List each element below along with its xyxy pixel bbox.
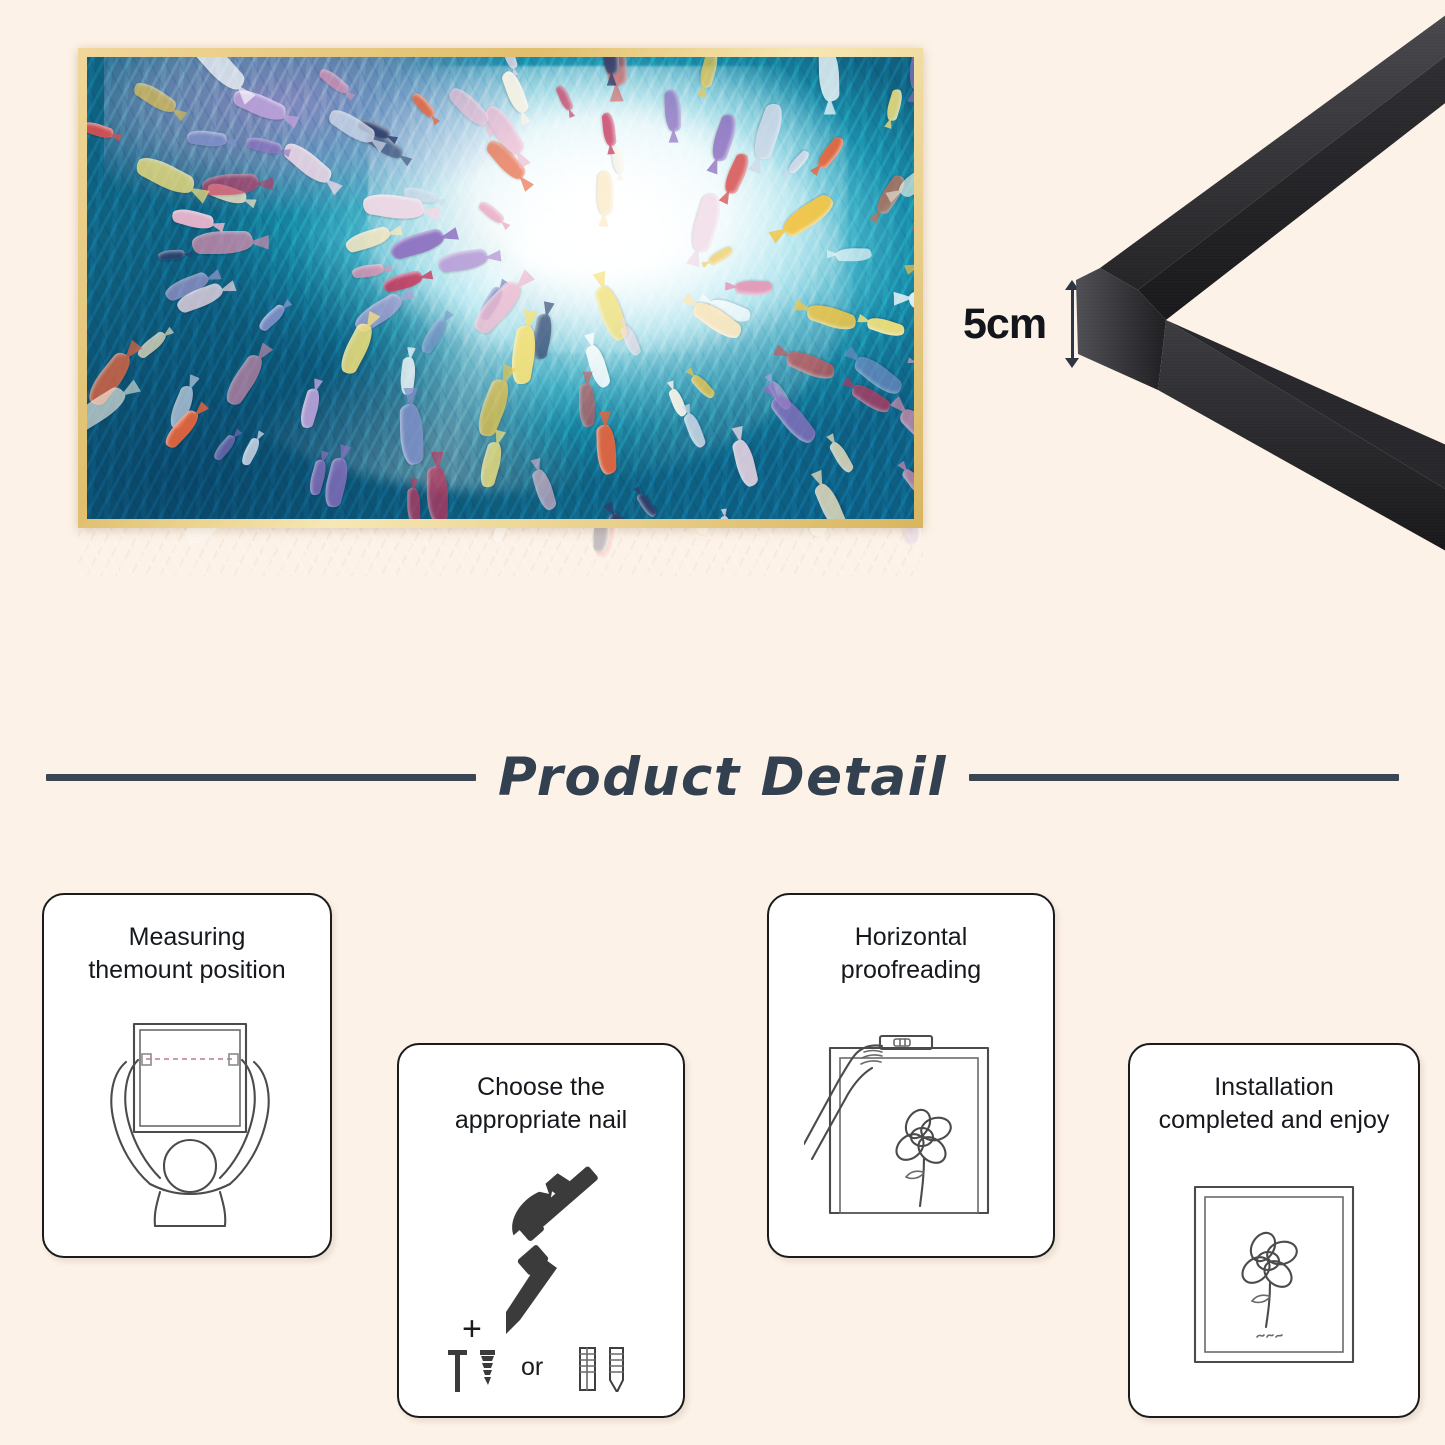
depth-label: 5cm bbox=[963, 300, 1046, 349]
hammer-and-nails-icon: + or bbox=[399, 1137, 683, 1416]
hero-artwork-framed[interactable] bbox=[78, 48, 923, 528]
screw-icon bbox=[480, 1350, 495, 1385]
card-title-line1: Measuring bbox=[88, 921, 285, 954]
fish bbox=[819, 57, 839, 101]
step-card-installation-complete[interactable]: Installation completed and enjoy bbox=[1128, 1043, 1420, 1418]
card-title-line2: completed and enjoy bbox=[1159, 1104, 1390, 1137]
signature-mark bbox=[1257, 1335, 1282, 1337]
product-detail-page: 5cm bbox=[0, 0, 1445, 1445]
page-title: Product Detail bbox=[498, 747, 947, 808]
step-card-measuring[interactable]: Measuring themount position bbox=[42, 893, 332, 1258]
step-card-choose-nail[interactable]: Choose the appropriate nail + bbox=[397, 1043, 685, 1418]
divider-right bbox=[969, 774, 1399, 781]
card-title: Choose the appropriate nail bbox=[439, 1071, 643, 1137]
step-card-horizontal-proofreading[interactable]: Horizontal proofreading bbox=[767, 893, 1055, 1258]
long-screw-icon bbox=[610, 1348, 623, 1392]
wall-plug-icon bbox=[580, 1348, 595, 1390]
card-title-line1: Horizontal bbox=[841, 921, 981, 954]
hand-with-spirit-level-icon bbox=[769, 987, 1053, 1256]
card-title-line1: Installation bbox=[1159, 1071, 1390, 1104]
section-title-row: Product Detail bbox=[0, 742, 1445, 812]
fish-painting-art bbox=[87, 57, 914, 519]
fish bbox=[835, 247, 871, 261]
or-label: or bbox=[521, 1353, 543, 1381]
card-title-line2: proofreading bbox=[841, 954, 981, 987]
card-title: Measuring themount position bbox=[72, 921, 301, 987]
black-frame-corner-photo bbox=[1060, 0, 1445, 570]
artwork-reflection bbox=[78, 528, 923, 873]
plus-symbol: + bbox=[462, 1310, 482, 1348]
card-title: Horizontal proofreading bbox=[825, 921, 997, 987]
divider-left bbox=[46, 774, 476, 781]
fish bbox=[578, 383, 595, 427]
hung-framed-picture-icon bbox=[1130, 1137, 1418, 1416]
person-measuring-frame-icon bbox=[44, 987, 330, 1256]
card-title-line2: themount position bbox=[88, 954, 285, 987]
flower-drawing bbox=[891, 1106, 953, 1206]
nail-icon bbox=[448, 1350, 467, 1392]
artwork-canvas bbox=[87, 57, 914, 519]
card-title: Installation completed and enjoy bbox=[1143, 1071, 1406, 1137]
flower-drawing bbox=[1237, 1228, 1299, 1326]
frame-corner-graphic bbox=[1060, 0, 1445, 570]
card-title-line1: Choose the bbox=[455, 1071, 627, 1104]
card-title-line2: appropriate nail bbox=[455, 1104, 627, 1137]
